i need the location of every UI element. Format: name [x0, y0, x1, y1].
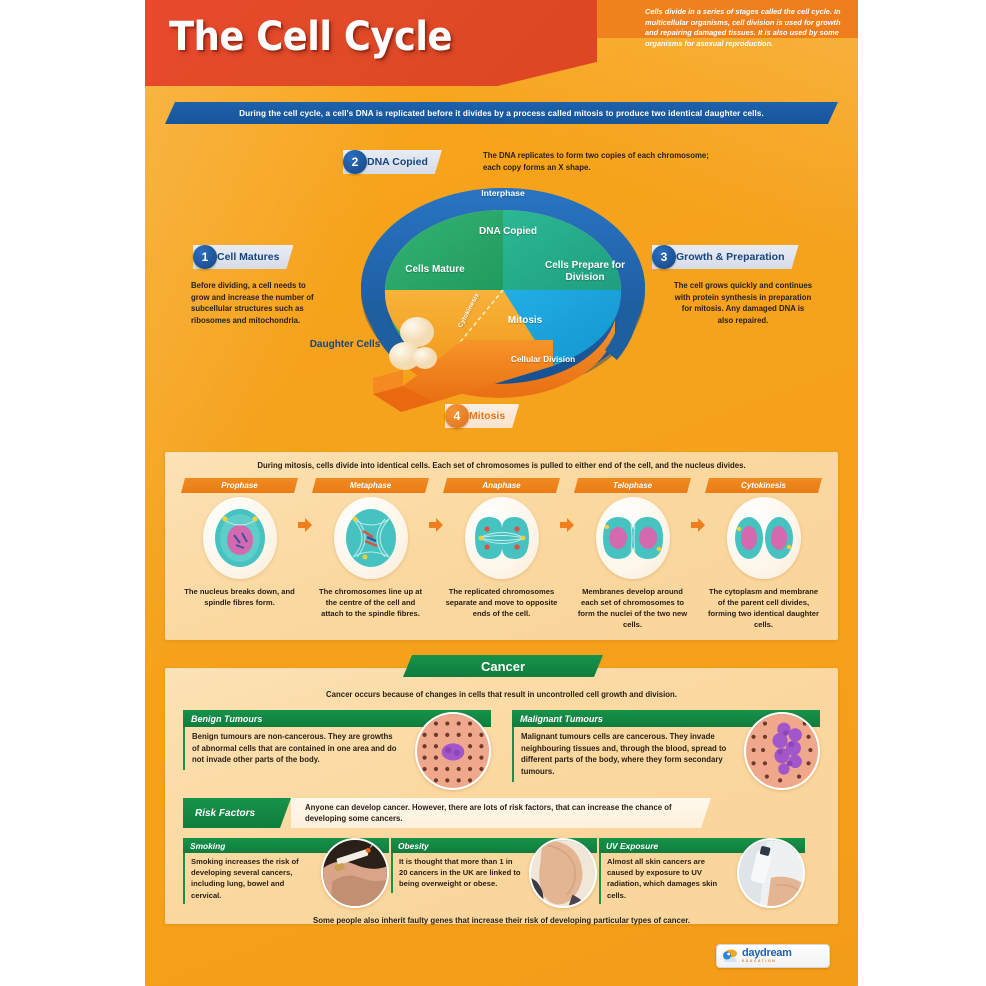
stage-header-metaphase: Metaphase: [312, 478, 429, 493]
malignant-tumour-image: [744, 712, 820, 790]
cycle-step-1-badge: Cell Matures 1: [193, 245, 293, 269]
cycle-step-2-number: 2: [343, 150, 367, 174]
stage-caption-metaphase: The chromosomes line up at the centre of…: [312, 586, 429, 619]
stage-caption-anaphase: The replicated chromosomes separate and …: [443, 586, 560, 619]
stage-arrow-1: [298, 478, 312, 630]
stage-header-prophase: Prophase: [181, 478, 298, 493]
benign-tissue-icon: [417, 714, 489, 788]
arrow-right-icon: [691, 518, 705, 532]
arrow-right-icon: [429, 518, 443, 532]
risk-factor-obesity-title: Obesity: [398, 841, 429, 851]
malignant-tissue-icon: [746, 714, 818, 788]
wheel-label-cellular-division: Cellular Division: [443, 355, 643, 364]
stage-image-cytokinesis: [705, 496, 822, 580]
mitosis-stage-telophase: Telophase: [574, 478, 691, 630]
risk-factor-uv-exposure: UV Exposure Almost all skin cancers are …: [599, 838, 805, 910]
arrow-right-icon: [298, 518, 312, 532]
risk-factors-tab: Risk Factors: [183, 798, 291, 828]
wheel-label-interphase: Interphase: [343, 188, 663, 198]
risk-factor-uv-image: [737, 838, 805, 908]
cancer-section-header: Cancer: [403, 655, 603, 677]
risk-factor-smoking-image: [321, 838, 389, 908]
cell-cycle-section: DNA Copied 2 The DNA replicates to form …: [165, 132, 838, 444]
risk-factor-smoking-text: Smoking increases the risk of developing…: [183, 853, 317, 904]
risk-factor-smoking-title: Smoking: [190, 841, 225, 851]
risk-factor-uv-text: Almost all skin cancers are caused by ex…: [599, 853, 733, 904]
daydream-logo-icon: [722, 949, 738, 963]
risk-factor-obesity: Obesity It is thought that more than 1 i…: [391, 838, 597, 910]
metaphase-cell-icon: [343, 507, 399, 569]
cycle-step-2-badge: DNA Copied 2: [343, 150, 442, 174]
stage-image-prophase: [181, 496, 298, 580]
risk-factor-uv-title: UV Exposure: [606, 841, 658, 851]
mitosis-stage-list: Prophase: [181, 478, 822, 630]
cycle-step-3-description: The cell grows quickly and continues wit…: [673, 280, 813, 327]
stage-title-metaphase: Metaphase: [350, 481, 391, 490]
cancer-footer-note: Some people also inherit faulty genes th…: [165, 916, 838, 925]
wheel-label-dna-copied: DNA Copied: [443, 226, 573, 237]
obesity-photo-icon: [531, 840, 595, 906]
stage-arrow-4: [691, 478, 705, 630]
intro-ribbon-text: During the cell cycle, a cell's DNA is r…: [239, 109, 764, 118]
mitosis-stage-anaphase: Anaphase: [443, 478, 560, 630]
cycle-step-4-number: 4: [445, 404, 469, 428]
wheel-label-cells-prepare: Cells Prepare for Division: [529, 260, 641, 284]
stage-header-cytokinesis: Cytokinesis: [705, 478, 822, 493]
benign-tumours-text: Benign tumours are non-cancerous. They a…: [183, 727, 407, 770]
logo-wordmark: daydream EDUCATION: [742, 948, 792, 963]
cell-cycle-wheel-diagram: Interphase DNA Copied Cells Mature Cells…: [343, 180, 663, 410]
stage-arrow-3: [560, 478, 574, 630]
stage-title-anaphase: Anaphase: [482, 481, 520, 490]
poster-canvas: The Cell Cycle Cells divide in a series …: [0, 0, 986, 986]
cigarette-photo-icon: [323, 840, 387, 906]
stage-header-telophase: Telophase: [574, 478, 691, 493]
benign-tumour-image: [415, 712, 491, 790]
stage-image-telophase: [574, 496, 691, 580]
malignant-tumours-card: Malignant Tumours Malignant tumours cell…: [512, 710, 820, 792]
cycle-step-2-description: The DNA replicates to form two copies of…: [483, 150, 711, 173]
logo-name: daydream: [742, 948, 792, 959]
risk-factors-label: Risk Factors: [195, 808, 255, 819]
logo-tagline: EDUCATION: [742, 960, 792, 963]
stage-header-anaphase: Anaphase: [443, 478, 560, 493]
anaphase-cell-icon: [471, 513, 533, 563]
risk-factors-note: Anyone can develop cancer. However, ther…: [291, 798, 711, 828]
cancer-section: Cancer occurs because of changes in cell…: [165, 668, 838, 924]
risk-factor-obesity-image: [529, 838, 597, 908]
sunscreen-photo-icon: [739, 840, 803, 906]
risk-factors-note-text: Anyone can develop cancer. However, ther…: [305, 802, 711, 825]
mitosis-stage-prophase: Prophase: [181, 478, 298, 630]
stage-arrow-2: [429, 478, 443, 630]
benign-tumours-title: Benign Tumours: [191, 714, 262, 724]
mitosis-stage-metaphase: Metaphase: [312, 478, 429, 630]
cycle-step-3-label: Growth & Preparation: [676, 251, 785, 263]
stage-image-metaphase: [312, 496, 429, 580]
mitosis-stage-cytokinesis: Cytokinesis The: [705, 478, 822, 630]
stage-title-prophase: Prophase: [221, 481, 257, 490]
malignant-tumours-text: Malignant tumours cells are cancerous. T…: [512, 727, 736, 782]
cell-cycle-poster: The Cell Cycle Cells divide in a series …: [145, 0, 858, 986]
stage-caption-telophase: Membranes develop around each set of chr…: [574, 586, 691, 630]
stage-image-anaphase: [443, 496, 560, 580]
poster-header: The Cell Cycle Cells divide in a series …: [145, 0, 858, 86]
malignant-tumours-title: Malignant Tumours: [520, 714, 603, 724]
cycle-step-3-badge: Growth & Preparation 3: [652, 245, 799, 269]
cancer-lead-text: Cancer occurs because of changes in cell…: [165, 690, 838, 699]
header-intro-text: Cells divide in a series of stages calle…: [645, 7, 850, 50]
stage-title-telophase: Telophase: [613, 481, 652, 490]
stage-caption-prophase: The nucleus breaks down, and spindle fib…: [181, 586, 298, 608]
cycle-step-1-description: Before dividing, a cell needs to grow an…: [191, 280, 316, 327]
arrow-right-icon: [560, 518, 574, 532]
page-title: The Cell Cycle: [169, 14, 452, 60]
benign-tumours-card: Benign Tumours Benign tumours are non-ca…: [183, 710, 491, 792]
cycle-step-1-label: Cell Matures: [217, 251, 279, 263]
mitosis-section: During mitosis, cells divide into identi…: [165, 452, 838, 640]
risk-factor-obesity-text: It is thought that more than 1 in 20 can…: [391, 853, 525, 893]
risk-factor-smoking: Smoking Smoking increases the risk of de…: [183, 838, 389, 910]
cycle-step-3-number: 3: [652, 245, 676, 269]
stage-title-cytokinesis: Cytokinesis: [741, 481, 786, 490]
intro-ribbon: During the cell cycle, a cell's DNA is r…: [165, 102, 838, 124]
mitosis-lead-text: During mitosis, cells divide into identi…: [165, 461, 838, 470]
cell-cycle-wheel-svg: [343, 180, 663, 410]
cytokinesis-cell-icon: [733, 515, 795, 561]
telophase-cell-icon: [601, 515, 665, 561]
wheel-label-daughter-cells: Daughter Cells: [305, 339, 385, 351]
prophase-cell-icon: [212, 507, 268, 569]
cancer-heading: Cancer: [481, 659, 525, 674]
wheel-label-mitosis: Mitosis: [475, 315, 575, 326]
stage-caption-cytokinesis: The cytoplasm and membrane of the parent…: [705, 586, 822, 630]
cycle-step-4-label: Mitosis: [469, 410, 505, 422]
cycle-step-1-number: 1: [193, 245, 217, 269]
wheel-label-cells-mature: Cells Mature: [387, 264, 483, 276]
cycle-step-2-label: DNA Copied: [367, 156, 428, 168]
daydream-education-logo: daydream EDUCATION: [716, 944, 830, 968]
risk-factors-row: Risk Factors Anyone can develop cancer. …: [183, 798, 820, 828]
